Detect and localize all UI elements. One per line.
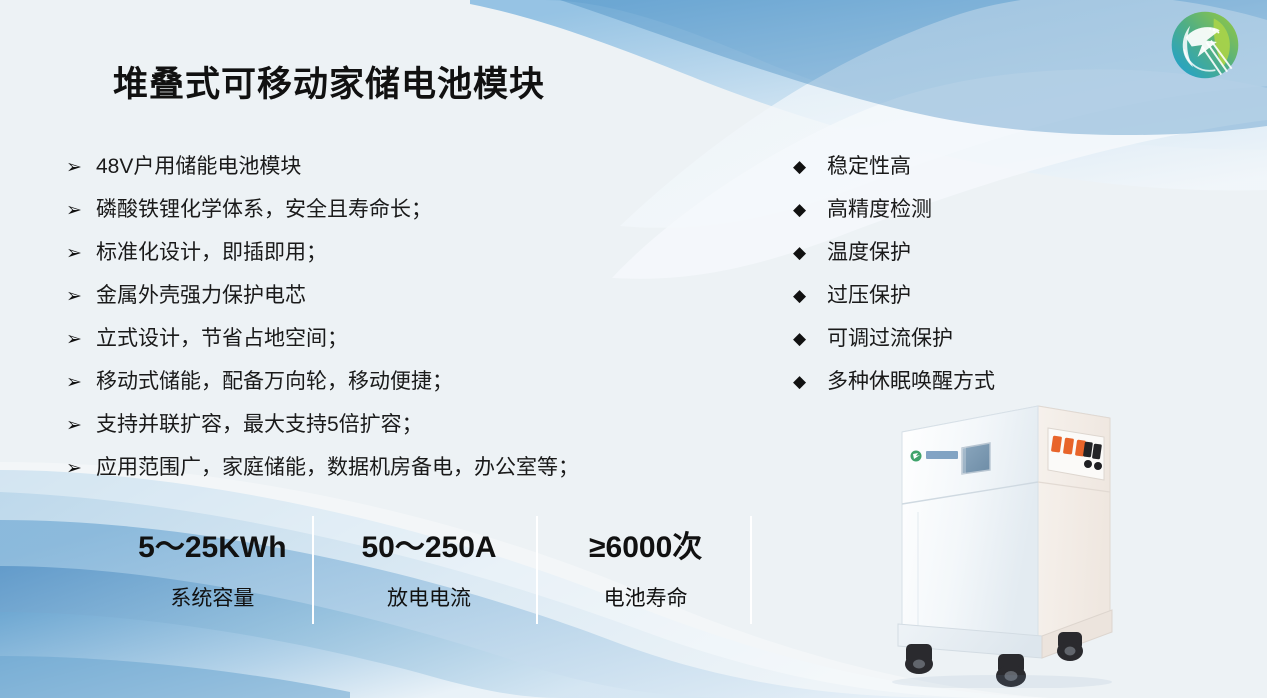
spec-label: 电池寿命 [537,582,754,612]
list-item-label: 磷酸铁锂化学体系，安全且寿命长； [96,195,432,225]
diamond-bullet-icon: ◆ [793,281,827,311]
list-item: ◆ 可调过流保护 [793,324,1093,367]
list-item-label: 立式设计，节省占地空间； [96,324,348,354]
company-logo [1168,8,1242,82]
list-item: ◆ 高精度检测 [793,195,1093,238]
list-item: ➢ 磷酸铁锂化学体系，安全且寿命长； [66,195,726,238]
arrow-bullet-icon: ➢ [66,195,96,225]
diamond-bullet-icon: ◆ [793,152,827,182]
leaf-lightning-logo-icon [1168,8,1242,82]
arrow-bullet-icon: ➢ [66,281,96,311]
spec-item-cycle-life: ≥6000次 电池寿命 [537,508,754,626]
arrow-bullet-icon: ➢ [66,152,96,182]
list-item-label: 稳定性高 [827,152,911,182]
spec-value: ≥6000次 [537,522,754,566]
list-item: ◆ 过压保护 [793,281,1093,324]
list-item: ➢ 48V户用储能电池模块 [66,152,726,195]
list-item: ➢ 立式设计，节省占地空间； [66,324,726,367]
slide-canvas: 堆叠式可移动家储电池模块 ➢ 48V户用储能电池模块 ➢ 磷酸铁锂化学体系，安全… [0,0,1267,698]
list-item-label: 温度保护 [827,238,911,268]
battery-cabinet-illustration [862,392,1130,688]
arrow-bullet-icon: ➢ [66,324,96,354]
list-item-label: 标准化设计，即插即用； [96,238,327,268]
list-item-label: 48V户用储能电池模块 [96,152,301,182]
diamond-bullet-icon: ◆ [793,324,827,354]
page-title: 堆叠式可移动家储电池模块 [113,56,545,107]
arrow-bullet-icon: ➢ [66,410,96,440]
diamond-bullet-icon: ◆ [793,195,827,225]
right-feature-list: ◆ 稳定性高 ◆ 高精度检测 ◆ 温度保护 ◆ 过压保护 ◆ 可调过流保护 ◆ … [793,152,1093,410]
spec-label: 系统容量 [104,582,321,612]
list-item: ◆ 稳定性高 [793,152,1093,195]
list-item: ➢ 移动式储能，配备万向轮，移动便捷； [66,367,726,410]
spec-value: 50～250A [321,522,538,566]
arrow-bullet-icon: ➢ [66,453,96,483]
list-item-label: 高精度检测 [827,195,932,225]
list-item-label: 可调过流保护 [827,324,953,354]
list-item: ➢ 应用范围广，家庭储能，数据机房备电，办公室等； [66,453,726,496]
spec-item-capacity: 5～25KWh 系统容量 [104,508,321,626]
spec-item-current: 50～250A 放电电流 [321,508,538,626]
product-image-battery-cabinet [862,392,1130,688]
list-item: ➢ 支持并联扩容，最大支持5倍扩容； [66,410,726,453]
spec-label: 放电电流 [321,582,538,612]
list-item-label: 过压保护 [827,281,911,311]
arrow-bullet-icon: ➢ [66,367,96,397]
list-item-label: 支持并联扩容，最大支持5倍扩容； [96,410,423,440]
diamond-bullet-icon: ◆ [793,367,827,397]
list-item: ◆ 温度保护 [793,238,1093,281]
list-item: ➢ 标准化设计，即插即用； [66,238,726,281]
diamond-bullet-icon: ◆ [793,238,827,268]
arrow-bullet-icon: ➢ [66,238,96,268]
list-item-label: 应用范围广，家庭储能，数据机房备电，办公室等； [96,453,579,483]
spec-value: 5～25KWh [104,522,321,566]
spec-summary-row: 5～25KWh 系统容量 50～250A 放电电流 ≥6000次 电池寿命 [104,508,754,626]
left-feature-list: ➢ 48V户用储能电池模块 ➢ 磷酸铁锂化学体系，安全且寿命长； ➢ 标准化设计… [66,152,726,496]
list-item-label: 移动式储能，配备万向轮，移动便捷； [96,367,453,397]
list-item: ➢ 金属外壳强力保护电芯 [66,281,726,324]
list-item-label: 金属外壳强力保护电芯 [96,281,306,311]
